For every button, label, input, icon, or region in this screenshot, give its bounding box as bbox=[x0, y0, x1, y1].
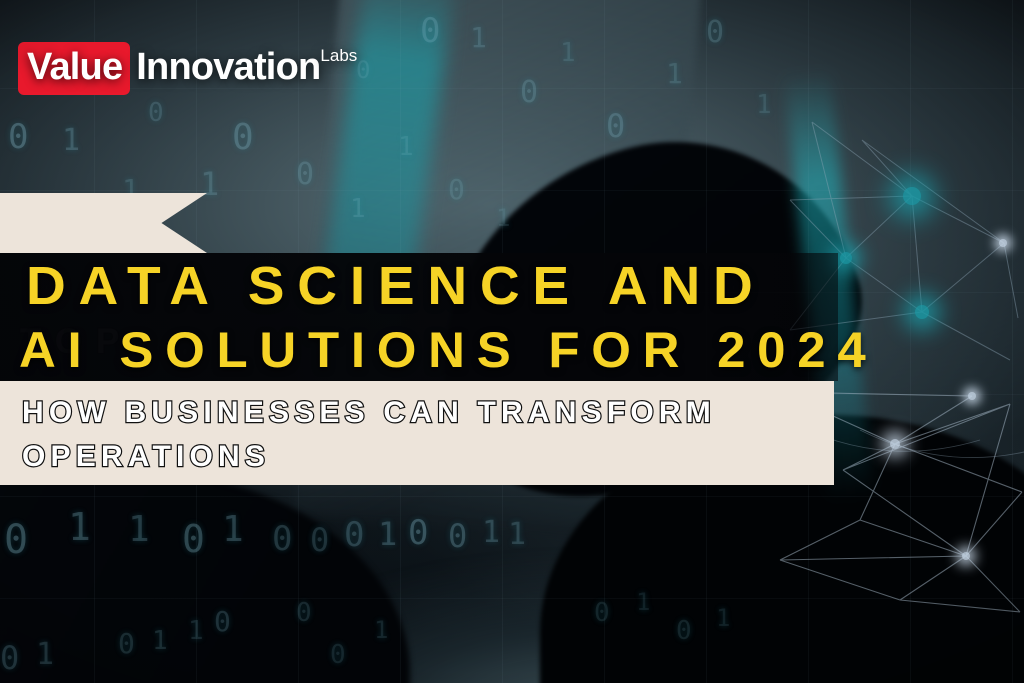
headline-line-2: AI SOLUTIONS FOR 2024 bbox=[19, 325, 877, 375]
brand-logo-labs-superscript: Labs bbox=[320, 42, 357, 64]
promo-banner: 0101010101010101010101101000100110101100… bbox=[0, 0, 1024, 683]
brand-logo-value-chip: Value bbox=[18, 42, 130, 95]
subtitle-text: HOW BUSINESSES CAN TRANSFORM OPERATIONS bbox=[22, 391, 822, 479]
brand-logo-innovation-word: Innovation bbox=[130, 42, 320, 95]
brand-logo[interactable]: Value Innovation Labs bbox=[18, 42, 357, 95]
headline-line-1: DATA SCIENCE AND bbox=[26, 259, 766, 313]
